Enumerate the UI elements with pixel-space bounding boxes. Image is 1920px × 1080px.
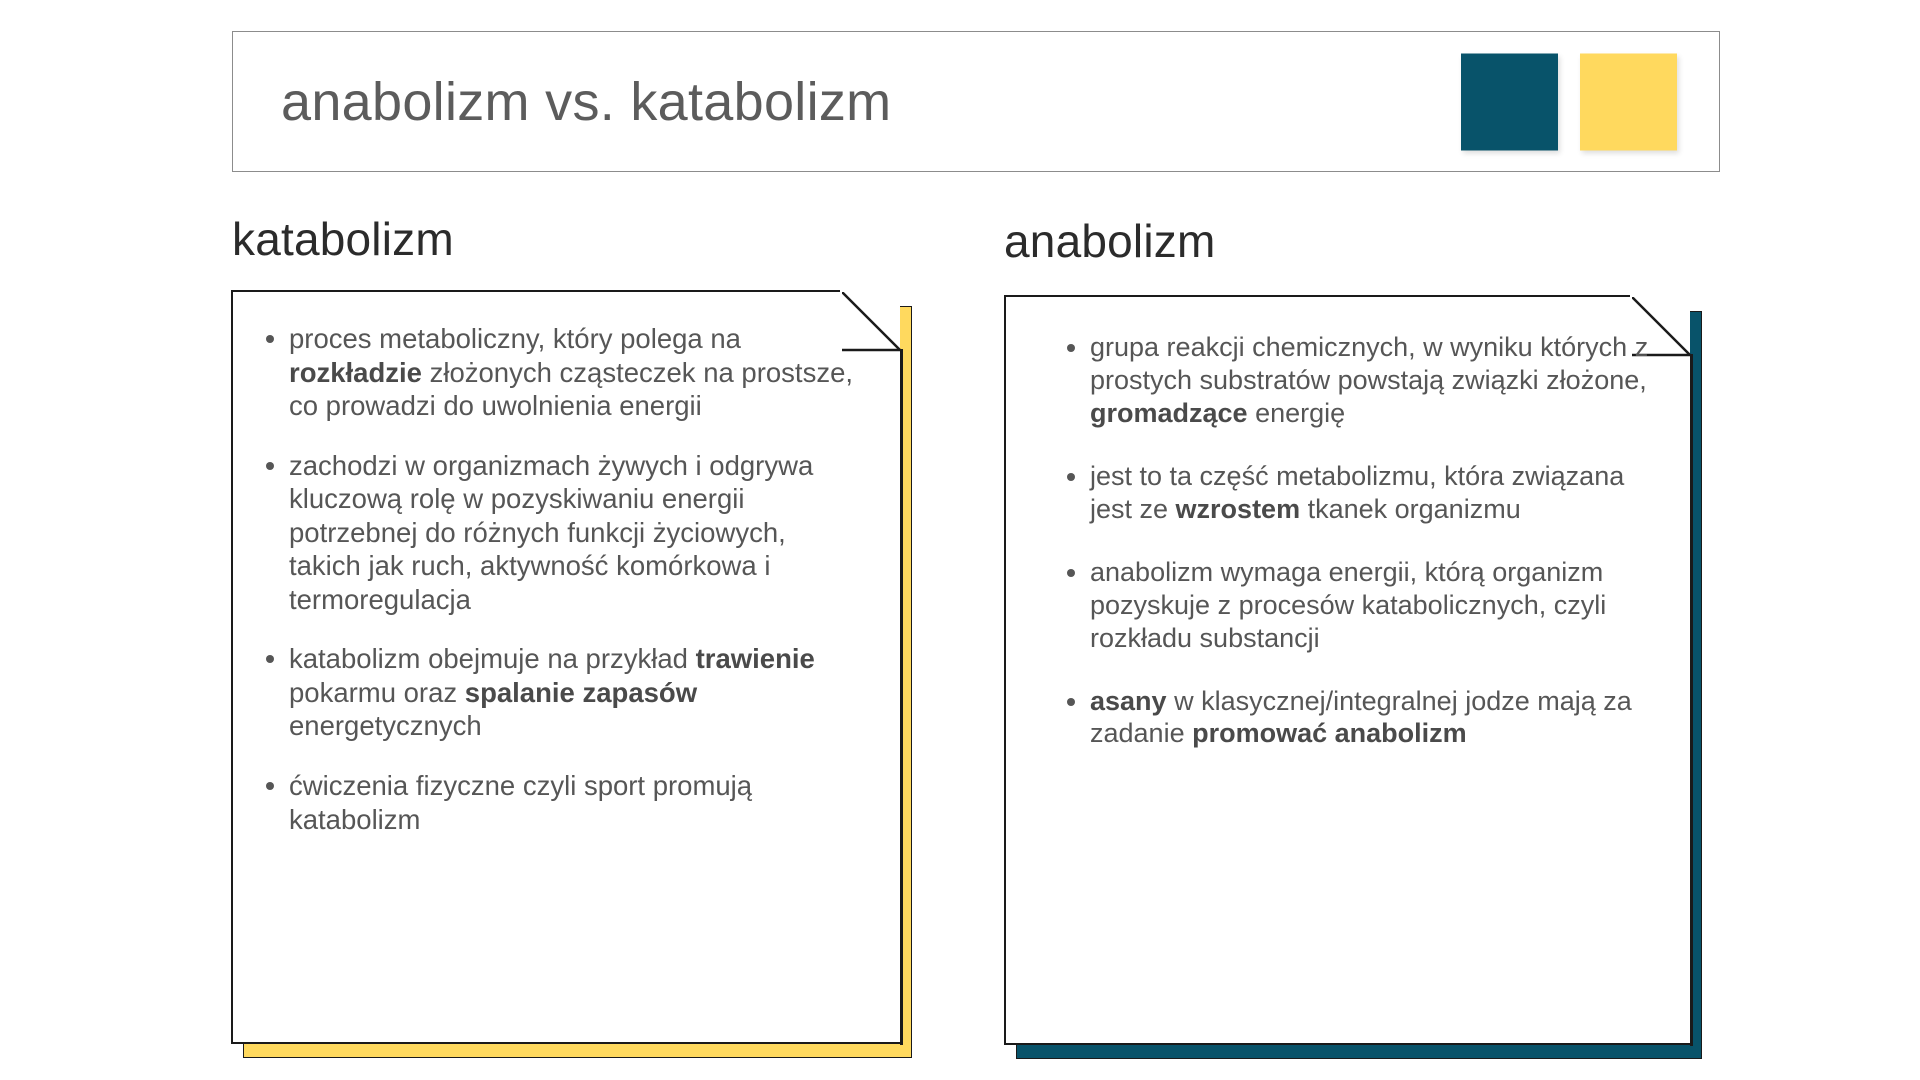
bullet-list-katabolizm: proces metaboliczny, który polega na roz… — [263, 322, 858, 836]
body-text: katabolizm obejmuje na przykład — [289, 643, 696, 674]
column-heading-anabolizm: anabolizm — [1004, 214, 1215, 268]
emphasis-text: promować anabolizm — [1192, 718, 1467, 748]
yellow-swatch — [1580, 53, 1677, 150]
list-item: jest to ta część metabolizmu, która zwią… — [1064, 460, 1650, 526]
list-item: ćwiczenia fizyczne czyli sport promują k… — [263, 769, 858, 836]
body-text: tkanek organizmu — [1300, 494, 1521, 524]
emphasis-text: wzrostem — [1176, 494, 1301, 524]
emphasis-text: gromadzące — [1090, 398, 1248, 428]
list-item: anabolizm wymaga energii, którą organizm… — [1064, 556, 1650, 655]
column-heading-katabolizm: katabolizm — [232, 212, 454, 266]
emphasis-text: rozkładzie — [289, 357, 422, 388]
swatch-group — [1461, 53, 1677, 150]
list-item: katabolizm obejmuje na przykład trawieni… — [263, 642, 858, 743]
list-item: grupa reakcji chemicznych, w wyniku któr… — [1064, 331, 1650, 430]
card-anabolizm: grupa reakcji chemicznych, w wyniku któr… — [1004, 297, 1704, 1060]
card-page-katabolizm: proces metaboliczny, który polega na roz… — [231, 292, 900, 1044]
body-text: energię — [1248, 398, 1346, 428]
emphasis-text: spalanie zapasów — [465, 677, 697, 708]
card-page-anabolizm: grupa reakcji chemicznych, w wyniku któr… — [1004, 297, 1690, 1045]
bullet-list-anabolizm: grupa reakcji chemicznych, w wyniku któr… — [1064, 331, 1650, 750]
card-body-anabolizm: grupa reakcji chemicznych, w wyniku któr… — [1006, 297, 1690, 1043]
body-text: ćwiczenia fizyczne czyli sport promują k… — [289, 770, 752, 835]
page-title: anabolizm vs. katabolizm — [281, 71, 891, 133]
body-text: proces metaboliczny, który polega na — [289, 323, 741, 354]
list-item: asany w klasycznej/integralnej jodze maj… — [1064, 685, 1650, 751]
teal-swatch — [1461, 53, 1558, 150]
body-text: pokarmu oraz — [289, 677, 465, 708]
body-text: anabolizm wymaga energii, którą organizm… — [1090, 557, 1606, 653]
list-item: zachodzi w organizmach żywych i odgrywa … — [263, 449, 858, 617]
header-bar: anabolizm vs. katabolizm — [232, 31, 1720, 172]
emphasis-text: trawienie — [696, 643, 815, 674]
emphasis-text: asany — [1090, 686, 1167, 716]
body-text: energetycznych — [289, 710, 482, 741]
list-item: proces metaboliczny, który polega na roz… — [263, 322, 858, 423]
body-text: grupa reakcji chemicznych, w wyniku któr… — [1090, 332, 1648, 395]
body-text: zachodzi w organizmach żywych i odgrywa … — [289, 450, 813, 615]
card-body-katabolizm: proces metaboliczny, który polega na roz… — [233, 292, 900, 1042]
card-katabolizm: proces metaboliczny, który polega na roz… — [231, 292, 914, 1060]
